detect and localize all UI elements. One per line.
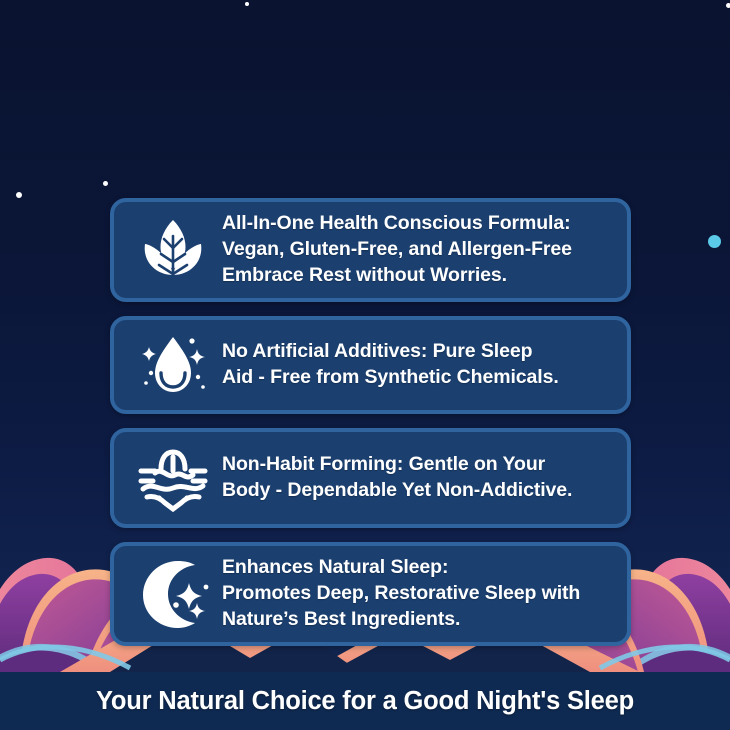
- feature-card-text: No Artificial Additives: Pure Sleep Aid …: [214, 339, 613, 391]
- feature-card-text: All-In-One Health Conscious Formula: Veg…: [214, 211, 613, 289]
- feature-card-enhances-sleep[interactable]: Enhances Natural Sleep: Promotes Deep, R…: [110, 542, 631, 646]
- crescent-moon-stars-icon: [132, 553, 214, 635]
- leaf-plant-icon: [132, 209, 214, 291]
- feature-line: Non-Habit Forming: Gentle on Your: [222, 452, 613, 478]
- star-dot: [245, 2, 249, 6]
- star-dot: [16, 192, 22, 198]
- feature-line: Nature’s Best Ingredients.: [222, 607, 613, 633]
- feature-line: No Artificial Additives: Pure Sleep: [222, 339, 613, 365]
- feature-line: Aid - Free from Synthetic Chemicals.: [222, 365, 613, 391]
- wave-sleep-icon: [132, 437, 214, 519]
- feature-card-all-in-one[interactable]: All-In-One Health Conscious Formula: Veg…: [110, 198, 631, 302]
- feature-line: Embrace Rest without Worries.: [222, 263, 613, 289]
- feature-card-text: Enhances Natural Sleep: Promotes Deep, R…: [214, 555, 613, 633]
- feature-line: Enhances Natural Sleep:: [222, 555, 613, 581]
- feature-line: Body - Dependable Yet Non-Addictive.: [222, 478, 613, 504]
- feature-line: All-In-One Health Conscious Formula:: [222, 211, 613, 237]
- feature-line: Promotes Deep, Restorative Sleep with: [222, 581, 613, 607]
- feature-line: Vegan, Gluten-Free, and Allergen-Free: [222, 237, 613, 263]
- footer-tagline-banner: Your Natural Choice for a Good Night's S…: [0, 672, 730, 730]
- feature-card-no-additives[interactable]: No Artificial Additives: Pure Sleep Aid …: [110, 316, 631, 414]
- sleep-aid-feature-graphic: All-In-One Health Conscious Formula: Veg…: [0, 0, 730, 730]
- accent-dot: [708, 235, 721, 248]
- star-dot: [103, 181, 108, 186]
- water-droplet-sparkle-icon: [132, 324, 214, 406]
- star-dot: [726, 3, 730, 8]
- feature-card-text: Non-Habit Forming: Gentle on Your Body -…: [214, 452, 613, 504]
- footer-tagline-text: Your Natural Choice for a Good Night's S…: [96, 687, 634, 716]
- feature-card-non-habit-forming[interactable]: Non-Habit Forming: Gentle on Your Body -…: [110, 428, 631, 528]
- feature-card-list: All-In-One Health Conscious Formula: Veg…: [110, 198, 631, 660]
